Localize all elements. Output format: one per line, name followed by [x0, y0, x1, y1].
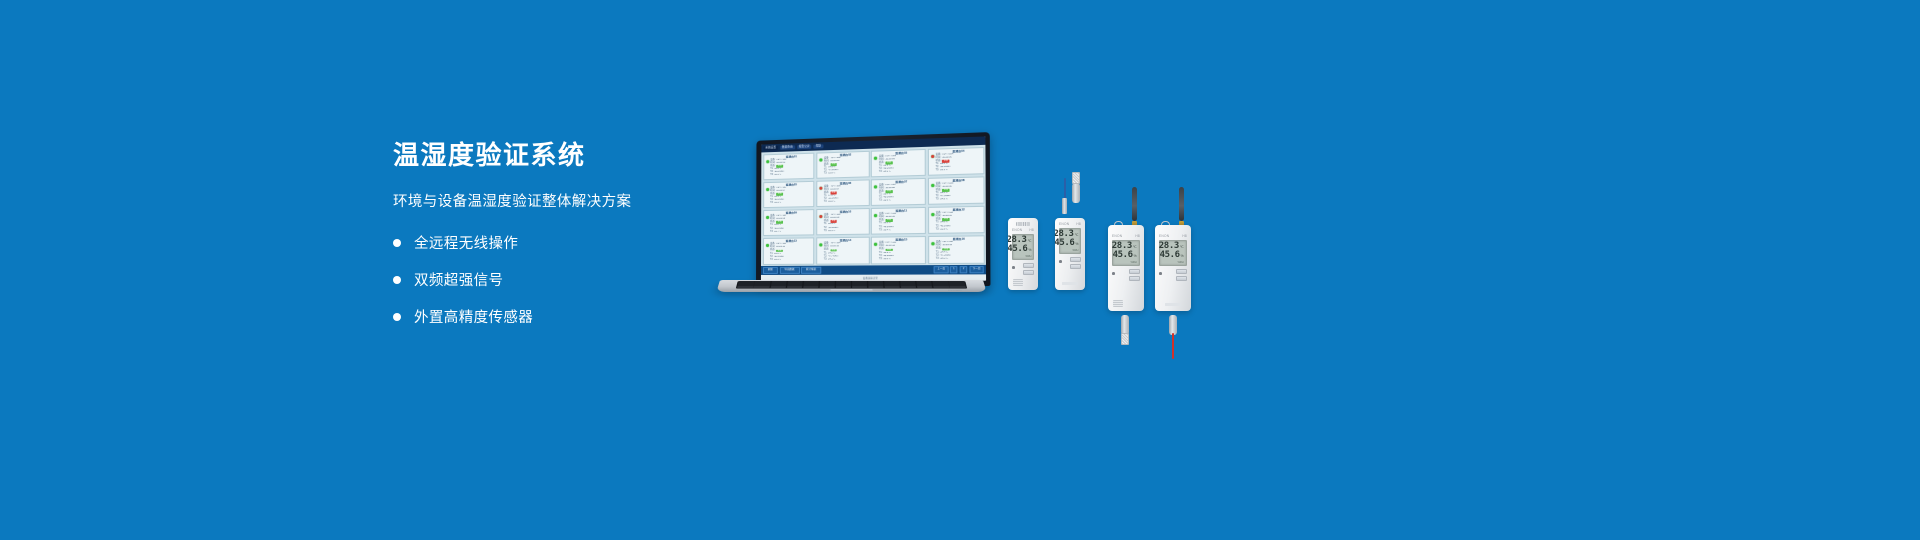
page-title: 温湿度验证系统: [393, 140, 723, 171]
device-button-down[interactable]: [1176, 276, 1187, 281]
sensor-card-row: T3:24.1℃: [824, 258, 868, 261]
logger-body: ENON H8 28.3 ℃ 45.6 % %RH: [1155, 225, 1191, 311]
device-model: H8: [1135, 234, 1140, 238]
sensor-card-row: T3:26.1℃: [936, 168, 982, 173]
trackpad[interactable]: [830, 289, 873, 291]
pager-page-2-button[interactable]: 2: [960, 266, 968, 273]
device-buttons: [1165, 269, 1187, 281]
power-led-icon: [1059, 260, 1062, 263]
keyboard-key[interactable]: [868, 287, 884, 288]
feature-label: 外置高精度传感器: [414, 306, 533, 327]
lcd-humidity-line: 45.6 %: [1115, 251, 1136, 260]
probe-wire-icon: [1172, 333, 1174, 359]
feature-label: 双频超强信号: [414, 269, 503, 290]
lcd-footer-unit: %RH: [1162, 261, 1183, 264]
device-button-up[interactable]: [1176, 269, 1187, 274]
value-t3: 24.0℃: [883, 171, 890, 174]
keyboard[interactable]: [736, 281, 967, 288]
logger-body: ENON H8 28.3 ℃ 45.6 % %RH: [1108, 225, 1144, 311]
sensor-card[interactable]: 监测点03设备:H8-T7103时间:10:28:06状态:正常T1:23.9℃…: [871, 148, 926, 177]
device-buttons: [1065, 257, 1081, 269]
feature-label: 全远程无线操作: [414, 232, 518, 253]
value-t3: 23.9℃: [940, 228, 948, 231]
sensor-card-row: T3:24.3℃: [936, 257, 982, 261]
probe-cap-icon: [1072, 183, 1080, 203]
hero-text-block: 温湿度验证系统 环境与设备温湿度验证整体解决方案 全远程无线操作 双频超强信号 …: [393, 140, 723, 343]
value-t3: 23.7℃: [774, 230, 781, 233]
label-t3: T3:: [936, 257, 940, 260]
device-model: H8: [1182, 234, 1187, 238]
sensor-card[interactable]: 监测点15设备:H8-T7115时间:10:28:12状态:正常T1:23.9℃…: [871, 236, 926, 264]
report-button[interactable]: 统计报表: [801, 267, 821, 274]
bullet-dot-icon: [393, 313, 401, 321]
value-t3: 24.3℃: [940, 257, 948, 260]
promo-banner: 温湿度验证系统 环境与设备温湿度验证整体解决方案 全远程无线操作 双频超强信号 …: [0, 0, 1920, 540]
value-time: 10:28:12: [886, 245, 895, 248]
menu-item-data-query[interactable]: 数据查询: [780, 145, 795, 150]
sensor-card[interactable]: 监测点07设备:H8-T7107时间:10:28:08状态:正常T1:23.7℃…: [871, 178, 926, 207]
feature-list: 全远程无线操作 双频超强信号 外置高精度传感器: [393, 232, 723, 327]
laptop-device: 系统设置 数据查询 报警记录 帮助 监测点01设备:H8-T7101时间:10:…: [720, 140, 988, 300]
data-logger-3: ENON H8 28.3 ℃ 45.6 % %RH: [1108, 225, 1144, 311]
keyboard-key[interactable]: [934, 287, 950, 288]
value-t3: 26.8℃: [828, 201, 835, 204]
sensor-card[interactable]: 监测点06设备:H8-T7106时间:10:28:07状态:报警T1:27.0℃…: [816, 179, 869, 207]
bullet-dot-icon: [393, 276, 401, 284]
label-t3: T3:: [879, 200, 882, 203]
lcd-humidity-unit: %: [1134, 254, 1137, 258]
value-t3: 23.5℃: [774, 259, 781, 262]
pager-page-1-button[interactable]: 1: [950, 266, 958, 273]
sensor-card-body: 监测点04设备:H8-T7104时间:10:28:06状态:报警T1:26.4℃…: [934, 149, 982, 174]
sensor-card-row: T3:23.5℃: [770, 258, 813, 261]
sensor-card-row: T3:24.0℃: [879, 170, 924, 174]
lcd-humidity-line: 45.6 %: [1015, 245, 1032, 254]
device-button-down[interactable]: [1070, 264, 1081, 269]
laptop-screen: 系统设置 数据查询 报警记录 帮助 监测点01设备:H8-T7101时间:10:…: [761, 136, 986, 281]
sensor-card-body: 监测点06设备:H8-T7106时间:10:28:07状态:报警T1:27.0℃…: [822, 181, 867, 205]
label-t3: T3:: [770, 202, 773, 205]
lcd-display: 28.3 ℃ 45.6 % %RH: [1059, 228, 1082, 254]
value-t3: 23.6℃: [883, 200, 890, 203]
sensor-card-row: T3:23.7℃: [770, 230, 813, 234]
value-t3: 23.8℃: [828, 173, 835, 176]
list-item: 全远程无线操作: [393, 232, 723, 253]
sensor-grille-icon: [1113, 300, 1123, 307]
power-led-icon: [1159, 272, 1162, 275]
sensor-card-row: T3:24.2℃: [936, 198, 982, 202]
label-t3: T3:: [770, 230, 773, 233]
data-logger-1: ENON H8 28.3 ℃ 45.6 % %RH: [1008, 218, 1038, 290]
value-t3: 26.5℃: [828, 230, 835, 233]
lcd-temperature-unit: ℃: [1180, 245, 1184, 249]
pager-next-button[interactable]: 下一页: [969, 266, 984, 273]
device-button-down[interactable]: [1129, 276, 1140, 281]
device-brand-row: ENON H8: [1108, 234, 1144, 238]
device-button-down[interactable]: [1023, 270, 1034, 275]
sensor-card-row: T3:26.8℃: [824, 200, 868, 204]
sensor-card-row: T3:23.3℃: [770, 202, 812, 206]
label-t3: T3:: [879, 258, 882, 261]
lcd-temperature-unit: ℃: [1075, 233, 1079, 237]
sensor-card-body: 监测点14设备:H8-T7114时间:10:28:11状态:正常T1:24.2℃…: [822, 239, 867, 262]
lcd-temperature-unit: ℃: [1133, 245, 1137, 249]
sensor-card[interactable]: 监测点01设备:H8-T7101时间:10:28:05状态:正常T1:23.6℃…: [763, 152, 815, 180]
value-t3: 26.1℃: [940, 169, 948, 172]
logger-body: ENON H8 28.3 ℃ 45.6 % %RH: [1008, 218, 1038, 290]
lcd-display: 28.3 ℃ 45.6 % %RH: [1112, 240, 1139, 266]
device-brand-row: ENON H8: [1055, 222, 1085, 226]
keyboard-key[interactable]: [754, 287, 770, 288]
laptop-lid: 系统设置 数据查询 报警记录 帮助 监测点01设备:H8-T7101时间:10:…: [756, 132, 990, 286]
device-brand: ENON: [1012, 228, 1022, 232]
sensor-card-row: T3:26.5℃: [824, 229, 868, 233]
sensor-card-body: 监测点01设备:H8-T7101时间:10:28:05状态:正常T1:23.6℃…: [769, 154, 813, 178]
value-t3: 24.1℃: [828, 258, 835, 261]
sensor-card-body: 监测点05设备:H8-T7105时间:10:28:07状态:正常T1:23.4℃…: [769, 183, 813, 207]
sensor-card[interactable]: 监测点09设备:H8-T7109时间:10:28:09状态:正常T1:23.8℃…: [763, 209, 815, 237]
value-t3: 23.8℃: [884, 258, 891, 261]
lcd-humidity-value: 45.6: [1055, 239, 1074, 248]
sensor-card-body: 监测点15设备:H8-T7115时间:10:28:12状态:正常T1:23.9℃…: [877, 238, 924, 262]
bullet-dot-icon: [393, 239, 401, 247]
sensor-card[interactable]: 监测点10设备:H8-T7110时间:10:28:09状态:报警T1:26.9℃…: [816, 208, 869, 236]
data-logger-4: ENON H8 28.3 ℃ 45.6 % %RH: [1155, 225, 1191, 311]
sensor-card-row: T3:23.6℃: [879, 199, 924, 203]
label-t3: T3:: [824, 230, 827, 233]
probe-filter-icon: [1072, 172, 1080, 184]
sensor-card-body: 监测点09设备:H8-T7109时间:10:28:09状态:正常T1:23.8℃…: [769, 211, 813, 234]
sensor-card[interactable]: 监测点02设备:H8-T7102时间:10:28:05状态:正常T1:24.1℃…: [816, 150, 869, 179]
device-brand: ENON: [1059, 222, 1069, 226]
sensor-card-body: 监测点10设备:H8-T7110时间:10:28:09状态:报警T1:26.9℃…: [822, 210, 867, 234]
lcd-humidity-unit: %: [1028, 248, 1031, 252]
power-led-icon: [1012, 266, 1015, 269]
lcd-footer-unit: %RH: [1062, 249, 1079, 252]
menu-item-system-settings[interactable]: 系统设置: [763, 146, 778, 151]
sensor-card-row: T3:23.4℃: [879, 228, 924, 232]
label-t3: T3:: [936, 199, 940, 202]
device-buttons: [1118, 269, 1140, 281]
menu-item-help[interactable]: 帮助: [814, 144, 824, 149]
value-t3: 23.5℃: [774, 174, 781, 177]
sensor-card[interactable]: 监测点11设备:H8-T7111时间:10:28:10状态:正常T1:23.5℃…: [871, 207, 926, 235]
keyboard-key[interactable]: [917, 287, 933, 288]
sensor-card-row: T3:23.8℃: [879, 258, 924, 261]
device-controls: [1008, 260, 1038, 275]
device-brand-row: ENON H8: [1008, 228, 1038, 232]
lcd-temperature-unit: ℃: [1028, 239, 1032, 243]
probe-stem-icon: [1062, 198, 1067, 214]
laptop-base: HUAWEI: [716, 280, 986, 292]
sensor-card-row: T3:23.9℃: [936, 228, 982, 232]
lcd-humidity-unit: %: [1181, 254, 1184, 258]
sensor-card-body: 监测点11设备:H8-T7111时间:10:28:10状态:正常T1:23.5℃…: [877, 209, 924, 233]
lcd-humidity-value: 45.6: [1160, 251, 1180, 260]
label-t3: T3:: [879, 229, 882, 232]
menu-item-alarm-log[interactable]: 报警记录: [797, 144, 812, 149]
list-item: 双频超强信号: [393, 269, 723, 290]
label-t3: T3:: [936, 228, 940, 231]
sensor-card-body: 监测点07设备:H8-T7107时间:10:28:08状态:正常T1:23.7℃…: [877, 180, 923, 204]
keyboard-key[interactable]: [803, 287, 819, 288]
export-data-button[interactable]: 导出数据: [779, 267, 799, 274]
sensor-card-body: 监测点16设备:H8-T7116时间:10:28:12状态:正常T1:24.4℃…: [934, 237, 982, 261]
label-t3: T3:: [824, 201, 827, 204]
value-t3: 24.2℃: [940, 199, 948, 202]
label-t3: T3:: [770, 259, 773, 262]
refresh-button[interactable]: 刷新: [763, 267, 778, 274]
device-controls: [1055, 254, 1085, 269]
label-t3: T3:: [936, 170, 940, 173]
lcd-footer-unit: %RH: [1115, 261, 1136, 264]
keyboard-row: [737, 287, 965, 288]
sensor-card-row: T3:23.8℃: [824, 172, 868, 176]
keyboard-key[interactable]: [852, 287, 868, 288]
value-time: 10:28:12: [943, 244, 953, 247]
label-t3: T3:: [770, 174, 773, 177]
device-brand-row: ENON H8: [1155, 234, 1191, 238]
sensor-card-grid: 监测点01设备:H8-T7101时间:10:28:05状态:正常T1:23.6℃…: [761, 145, 986, 266]
device-buttons: [1018, 263, 1034, 275]
device-brand: ENON: [1112, 234, 1122, 238]
logger-body: ENON H8 28.3 ℃ 45.6 % %RH: [1055, 218, 1085, 290]
sensor-grille-icon: [1013, 279, 1023, 286]
keyboard-key[interactable]: [836, 287, 852, 288]
probe-filter-icon: [1121, 333, 1129, 345]
lcd-footer-unit: %RH: [1015, 255, 1032, 258]
sensor-card[interactable]: 监测点12设备:H8-T7112时间:10:28:10状态:正常T1:24.0℃…: [928, 206, 985, 235]
sensor-card[interactable]: 监测点05设备:H8-T7105时间:10:28:07状态:正常T1:23.4℃…: [763, 180, 815, 208]
sensor-card-body: 监测点12设备:H8-T7112时间:10:28:10状态:正常T1:24.0℃…: [934, 208, 982, 232]
data-logger-2: ENON H8 28.3 ℃ 45.6 % %RH: [1055, 200, 1085, 290]
keyboard-key[interactable]: [819, 287, 835, 288]
device-controls: [1108, 266, 1144, 281]
lcd-display: 28.3 ℃ 45.6 % %RH: [1159, 240, 1186, 266]
lcd-display: 28.3 ℃ 45.6 % %RH: [1012, 234, 1035, 260]
value-t3: 23.3℃: [774, 202, 781, 205]
hero-subtitle: 环境与设备温湿度验证整体解决方案: [393, 190, 723, 211]
lcd-humidity-line: 45.6 %: [1162, 251, 1183, 260]
sensor-card-body: 监测点13设备:H8-T7113时间:10:28:11状态:正常T1:23.6℃…: [768, 239, 812, 262]
probe-cap-icon: [1169, 315, 1177, 335]
lcd-humidity-value: 45.6: [1113, 251, 1133, 260]
value-t3: 23.4℃: [884, 229, 891, 232]
label-t3: T3:: [824, 173, 827, 176]
probe-cap-icon: [1121, 315, 1129, 335]
sensor-card[interactable]: 监测点08设备:H8-T7108时间:10:28:08状态:正常T1:24.3℃…: [928, 176, 985, 205]
device-controls: [1155, 266, 1191, 281]
device-model: H8: [1076, 222, 1081, 226]
lcd-humidity-value: 45.6: [1008, 245, 1027, 254]
sensor-card-body: 监测点02设备:H8-T7102时间:10:28:05状态:正常T1:24.1℃…: [822, 152, 867, 176]
device-button-up[interactable]: [1129, 269, 1140, 274]
keyboard-key[interactable]: [737, 287, 753, 288]
power-led-icon: [1112, 272, 1115, 275]
antenna-icon: [1132, 187, 1137, 221]
lcd-humidity-line: 45.6 %: [1062, 239, 1079, 248]
sensor-card[interactable]: 监测点13设备:H8-T7113时间:10:28:11状态:正常T1:23.6℃…: [762, 237, 814, 264]
laptop-brand-label: HUAWEI: [948, 289, 962, 291]
device-button-up[interactable]: [1023, 263, 1034, 268]
sensor-card-body: 监测点08设备:H8-T7108时间:10:28:08状态:正常T1:24.3℃…: [934, 178, 982, 203]
device-button-up[interactable]: [1070, 257, 1081, 262]
pager-prev-button[interactable]: 上一页: [934, 266, 948, 273]
vent-icon: [1016, 222, 1030, 226]
keyboard-key[interactable]: [950, 287, 966, 288]
keyboard-key[interactable]: [786, 287, 802, 288]
keyboard-key[interactable]: [770, 287, 786, 288]
label-t3: T3:: [824, 258, 827, 261]
sensor-card[interactable]: 监测点14设备:H8-T7114时间:10:28:11状态:正常T1:24.2℃…: [816, 237, 869, 265]
device-brand: ENON: [1159, 234, 1169, 238]
sensor-card-body: 监测点03设备:H8-T7103时间:10:28:06状态:正常T1:23.9℃…: [877, 151, 923, 176]
sensor-card[interactable]: 监测点16设备:H8-T7116时间:10:28:12状态:正常T1:24.4℃…: [928, 235, 985, 263]
lcd-humidity-unit: %: [1075, 242, 1078, 246]
keyboard-key[interactable]: [901, 287, 917, 288]
sensor-card[interactable]: 监测点04设备:H8-T7104时间:10:28:06状态:报警T1:26.4℃…: [927, 146, 983, 175]
sensor-card-row: T3:23.5℃: [770, 173, 812, 177]
label-t3: T3:: [879, 171, 882, 174]
keyboard-key[interactable]: [885, 287, 901, 288]
list-item: 外置高精度传感器: [393, 306, 723, 327]
antenna-icon: [1179, 187, 1184, 221]
device-label-strip: [1062, 282, 1078, 285]
device-model: H8: [1029, 228, 1034, 232]
device-label-strip: [1165, 303, 1181, 306]
